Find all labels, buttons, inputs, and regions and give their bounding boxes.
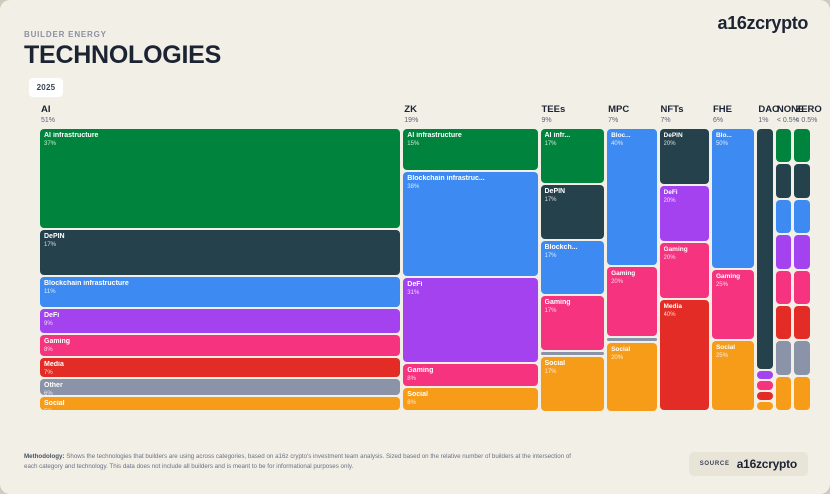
treemap-tile[interactable]: Other< 0.5% <box>541 352 605 355</box>
source-label: SOURCE <box>700 461 730 467</box>
treemap-tile[interactable]: Gaming20% <box>607 267 656 335</box>
tile-percentage: 50% <box>716 140 750 148</box>
treemap-tile[interactable]: DeFi20% <box>660 186 709 241</box>
tile-percentage: 20% <box>664 197 705 205</box>
year-filter-badge[interactable]: 2025 <box>29 78 63 97</box>
column-percentage: 19% <box>404 116 537 125</box>
tile-percentage: 17% <box>545 252 601 260</box>
tile-percentage: 17% <box>44 241 396 249</box>
treemap-tile[interactable]: Blockch...17% <box>541 241 605 295</box>
column-header: NONE< 0.5% <box>776 104 792 129</box>
treemap-column-mpc[interactable]: MPC7%Bloc...40%Gaming20%Other< 0.5%Socia… <box>607 104 656 410</box>
tile-label: AI infrastructure <box>407 132 533 140</box>
treemap-tile[interactable] <box>794 164 810 197</box>
brand-logo: a16zcrypto <box>718 13 808 34</box>
tile-percentage: 17% <box>545 196 601 204</box>
tile-label: Blo... <box>716 132 750 140</box>
treemap-column-dao[interactable]: DAO1% <box>757 104 773 410</box>
column-tiles <box>757 129 773 410</box>
treemap-tile[interactable] <box>757 402 773 410</box>
column-tiles: DePIN20%DeFi20%Gaming20%Media40% <box>660 129 709 410</box>
treemap-tile[interactable] <box>776 306 792 339</box>
treemap-tile[interactable] <box>776 271 792 304</box>
column-name: ZK <box>404 104 537 115</box>
tile-label: Gaming <box>611 270 652 278</box>
tile-label: DePIN <box>545 188 601 196</box>
tile-percentage: 11% <box>44 288 396 296</box>
column-tiles: Bloc...40%Gaming20%Other< 0.5%Social20% <box>607 129 656 411</box>
tile-percentage: 20% <box>611 278 652 286</box>
column-percentage: 51% <box>41 116 400 125</box>
tile-label: DeFi <box>664 189 705 197</box>
tile-percentage: 8% <box>407 399 533 407</box>
tile-label: AI infrastructure <box>44 132 396 140</box>
tile-percentage: 17% <box>545 368 601 376</box>
treemap-tile[interactable]: Gaming25% <box>712 270 754 339</box>
treemap-tile[interactable]: Social8% <box>403 388 537 410</box>
tile-label: DeFi <box>407 281 533 289</box>
treemap-tile[interactable] <box>794 377 810 410</box>
treemap-tile[interactable]: Gaming8% <box>40 335 400 356</box>
treemap-tile[interactable]: Social5% <box>40 397 400 410</box>
tile-label: Gaming <box>716 273 750 281</box>
treemap-tile[interactable]: DeFi31% <box>403 278 537 363</box>
treemap-tile[interactable]: AI infrastructure37% <box>40 129 400 228</box>
tile-percentage: 37% <box>44 140 396 148</box>
column-name: MPC <box>608 104 656 115</box>
treemap-tile[interactable]: Other< 0.5% <box>607 338 656 341</box>
treemap-tile[interactable] <box>794 306 810 339</box>
tile-label: Social <box>716 344 750 352</box>
column-name: NFTs <box>661 104 709 115</box>
column-header: NFTs7% <box>660 104 709 129</box>
column-header: DAO1% <box>757 104 773 129</box>
treemap-tile[interactable] <box>776 200 792 233</box>
column-name: TEEs <box>542 104 605 115</box>
infographic-page: BUILDER ENERGY TECHNOLOGIES a16zcrypto 2… <box>0 0 830 494</box>
methodology-note: Methodology: Shows the technologies that… <box>24 452 584 472</box>
treemap-tile[interactable]: Social20% <box>607 343 656 411</box>
treemap-tile[interactable]: Social17% <box>541 357 605 411</box>
treemap-tile[interactable] <box>794 235 810 268</box>
treemap-tile[interactable]: Media7% <box>40 358 400 377</box>
treemap-tile[interactable]: Social25% <box>712 341 754 410</box>
tile-percentage: 17% <box>545 307 601 315</box>
column-tiles: Blo...50%Gaming25%Social25% <box>712 129 754 410</box>
treemap-tile[interactable] <box>776 164 792 197</box>
tile-percentage: 31% <box>407 289 533 297</box>
tile-label: Social <box>611 346 652 354</box>
tile-label: Blockch... <box>545 244 601 252</box>
treemap-tile[interactable]: Media40% <box>660 300 709 410</box>
treemap-tile[interactable] <box>757 381 773 389</box>
tile-label: Gaming <box>407 367 533 375</box>
tile-label: DePIN <box>44 233 396 241</box>
treemap-tile[interactable] <box>776 235 792 268</box>
treemap-tile[interactable] <box>794 271 810 304</box>
tile-label: Media <box>44 361 396 369</box>
column-header: MPC7% <box>607 104 656 129</box>
methodology-text: Shows the technologies that builders are… <box>24 453 571 470</box>
tile-label: Social <box>545 360 601 368</box>
column-percentage: 9% <box>542 116 605 125</box>
treemap-tile[interactable] <box>794 200 810 233</box>
treemap-column-fhe[interactable]: FHE6%Blo...50%Gaming25%Social25% <box>712 104 754 410</box>
column-percentage: < 0.5% <box>777 116 792 125</box>
treemap-tile[interactable]: Blockchain infrastruc...38% <box>403 172 537 276</box>
column-tiles <box>776 129 792 410</box>
column-name: NONE <box>777 104 792 115</box>
column-name: AI <box>41 104 400 115</box>
treemap-tile[interactable]: DeFi9% <box>40 309 400 333</box>
treemap-tile[interactable]: AI infrastructure15% <box>403 129 537 170</box>
treemap-tile[interactable] <box>776 341 792 374</box>
treemap-tile[interactable]: DePIN17% <box>40 230 400 275</box>
treemap-tile[interactable]: Blockchain infrastructure11% <box>40 277 400 306</box>
tile-label: Blockchain infrastructure <box>44 280 396 288</box>
tile-percentage: 38% <box>407 183 533 191</box>
column-header: ZERO< 0.5% <box>794 104 810 129</box>
column-tiles: AI infrastructure37%DePIN17%Blockchain i… <box>40 129 400 410</box>
column-tiles: AI infr...17%DePIN17%Blockch...17%Gaming… <box>541 129 605 411</box>
treemap-column-ai[interactable]: AI51%AI infrastructure37%DePIN17%Blockch… <box>40 104 400 410</box>
page-title: TECHNOLOGIES <box>24 42 221 68</box>
tile-percentage: 20% <box>664 140 705 148</box>
column-header: FHE6% <box>712 104 754 129</box>
tile-percentage: 40% <box>664 311 705 319</box>
tile-percentage: 17% <box>545 140 601 148</box>
tile-percentage: 20% <box>611 354 652 362</box>
column-name: FHE <box>713 104 754 115</box>
treemap-column-none[interactable]: NONE< 0.5% <box>776 104 792 410</box>
column-percentage: 6% <box>713 116 754 125</box>
tile-label: DePIN <box>664 132 705 140</box>
treemap-tile[interactable]: DePIN17% <box>541 185 605 239</box>
treemap-tile[interactable]: DePIN20% <box>660 129 709 184</box>
treemap-tile[interactable]: Blo...50% <box>712 129 754 268</box>
treemap-tile[interactable] <box>757 371 773 379</box>
column-percentage: 7% <box>608 116 656 125</box>
column-header: ZK19% <box>403 104 537 129</box>
column-percentage: 7% <box>661 116 709 125</box>
tile-percentage: 15% <box>407 140 533 148</box>
tile-percentage: 8% <box>44 346 396 354</box>
source-badge: SOURCE a16zcrypto <box>689 452 808 476</box>
treemap-tile[interactable]: Gaming8% <box>403 364 537 386</box>
tile-percentage: 8% <box>407 375 533 383</box>
tile-percentage: 5% <box>44 408 396 410</box>
treemap-column-zk[interactable]: ZK19%AI infrastructure15%Blockchain infr… <box>403 104 537 410</box>
column-header: TEEs9% <box>541 104 605 129</box>
tile-label: Gaming <box>664 246 705 254</box>
tile-label: Media <box>664 303 705 311</box>
treemap-tile[interactable]: Other6% <box>40 379 400 395</box>
header-block: BUILDER ENERGY TECHNOLOGIES <box>24 30 221 68</box>
methodology-label: Methodology: <box>24 453 65 460</box>
column-name: ZERO <box>795 104 810 115</box>
tile-label: Gaming <box>44 338 396 346</box>
treemap-tile[interactable]: Gaming17% <box>541 296 605 350</box>
treemap-tile[interactable]: Gaming20% <box>660 243 709 298</box>
tile-label: AI infr... <box>545 132 601 140</box>
tile-label: DeFi <box>44 312 396 320</box>
tile-percentage: 25% <box>716 352 750 360</box>
column-header: AI51% <box>40 104 400 129</box>
treemap-column-nfts[interactable]: NFTs7%DePIN20%DeFi20%Gaming20%Media40% <box>660 104 709 410</box>
eyebrow-label: BUILDER ENERGY <box>24 30 221 39</box>
treemap-tile[interactable] <box>794 341 810 374</box>
tile-percentage: 40% <box>611 140 652 148</box>
treemap-tile[interactable] <box>794 129 810 162</box>
tile-percentage: 7% <box>44 369 396 377</box>
tile-percentage: 25% <box>716 281 750 289</box>
tile-label: Blockchain infrastruc... <box>407 175 533 183</box>
column-name: DAO <box>758 104 773 115</box>
treemap-tile[interactable] <box>757 129 773 369</box>
treemap-tile[interactable] <box>776 129 792 162</box>
tile-percentage: 6% <box>44 390 396 395</box>
treemap-tile[interactable] <box>757 392 773 400</box>
column-percentage: 1% <box>758 116 773 125</box>
tile-label: Gaming <box>545 299 601 307</box>
tile-label: Social <box>407 391 533 399</box>
tile-label: Other <box>44 382 396 390</box>
treemap-column-zero[interactable]: ZERO< 0.5% <box>794 104 810 410</box>
treemap-column-tees[interactable]: TEEs9%AI infr...17%DePIN17%Blockch...17%… <box>541 104 605 410</box>
treemap-tile[interactable]: AI infr...17% <box>541 129 605 183</box>
column-percentage: < 0.5% <box>795 116 810 125</box>
treemap-tile[interactable]: Bloc...40% <box>607 129 656 265</box>
tile-percentage: 20% <box>664 254 705 262</box>
column-tiles: AI infrastructure15%Blockchain infrastru… <box>403 129 537 410</box>
source-brand-logo: a16zcrypto <box>737 457 797 471</box>
treemap-chart: AI51%AI infrastructure37%DePIN17%Blockch… <box>40 104 810 410</box>
tile-label: Bloc... <box>611 132 652 140</box>
column-tiles <box>794 129 810 410</box>
tile-label: Social <box>44 400 396 408</box>
tile-percentage: 9% <box>44 320 396 328</box>
treemap-tile[interactable] <box>776 377 792 410</box>
